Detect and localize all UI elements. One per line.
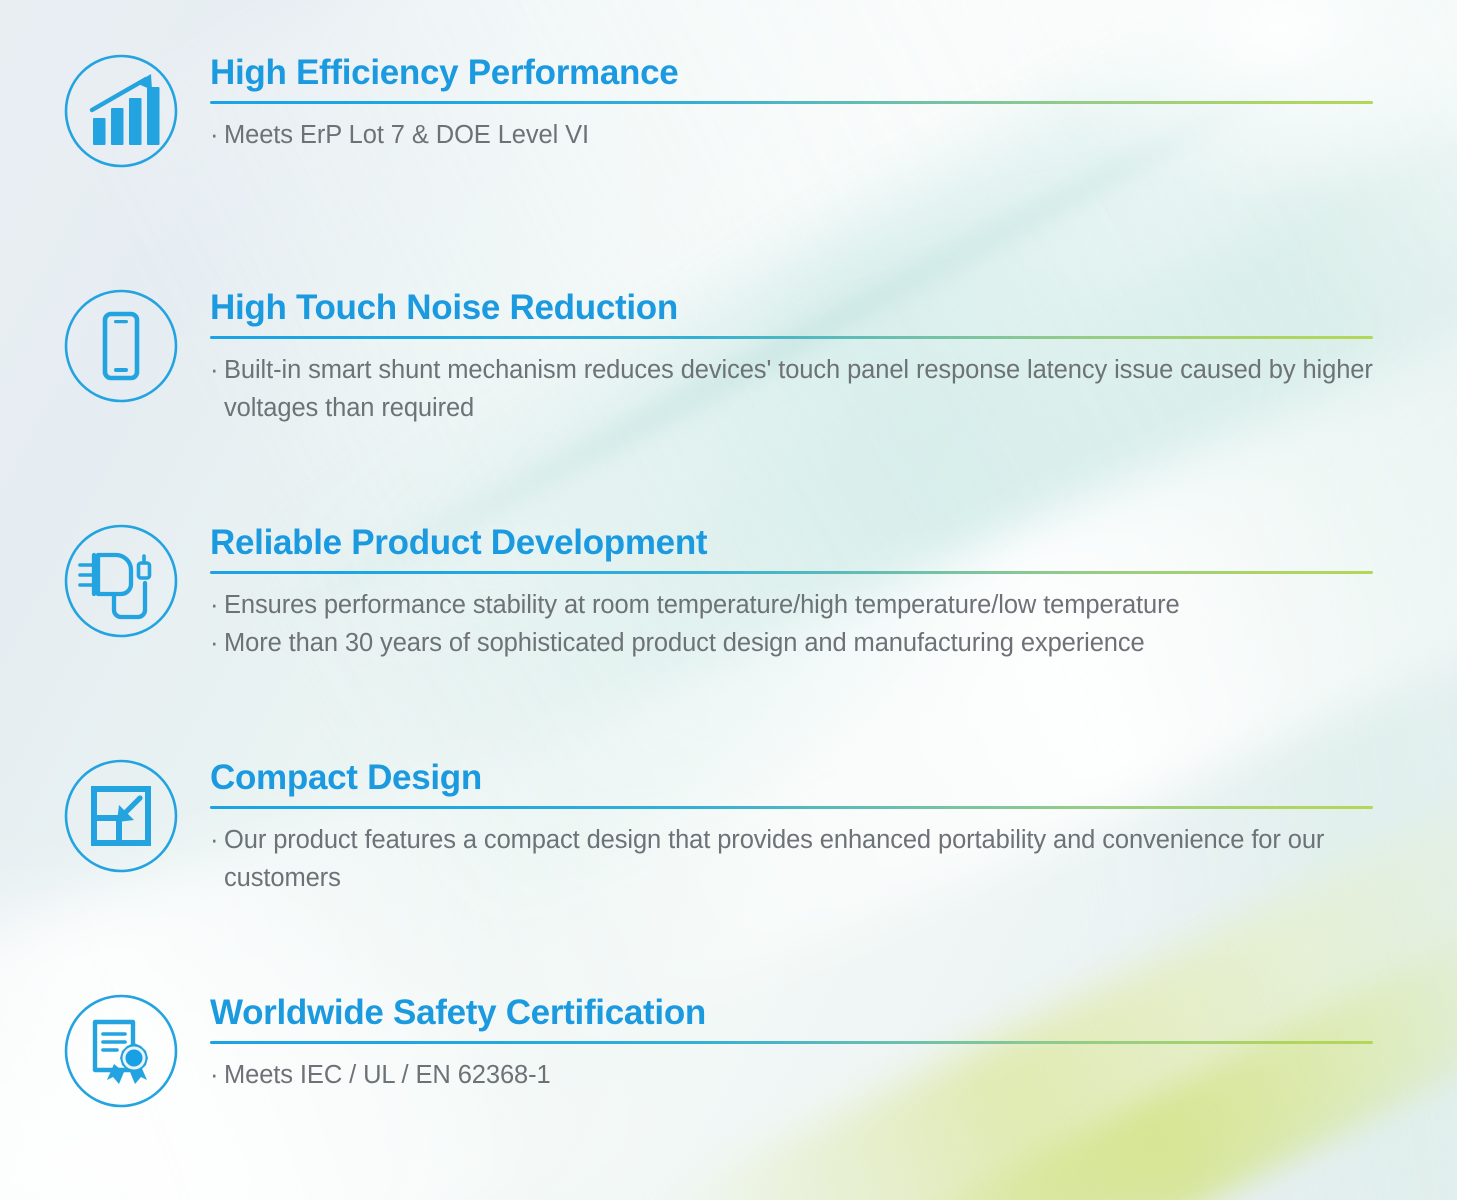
feature-divider (210, 336, 1373, 339)
bullet-item: · Ensures performance stability at room … (210, 587, 1390, 625)
feature-divider (210, 1041, 1373, 1044)
feature-bullets: · Meets IEC / UL / EN 62368-1 (210, 1057, 1390, 1095)
bullet-item: · More than 30 years of sophisticated pr… (210, 625, 1390, 663)
feature-item-worldwide-safety-certification: Worldwide Safety Certification · Meets I… (0, 992, 1457, 1110)
power-adapter-icon (58, 522, 183, 640)
bullet-marker: · (210, 587, 224, 625)
bullet-marker: · (210, 822, 224, 897)
feature-bullets: · Meets ErP Lot 7 & DOE Level VI (210, 117, 1390, 155)
feature-content: Reliable Product Development · Ensures p… (210, 522, 1390, 662)
feature-content: High Touch Noise Reduction · Built-in sm… (210, 287, 1390, 427)
bullet-item: · Our product features a compact design … (210, 822, 1390, 897)
feature-title: High Efficiency Performance (210, 54, 1390, 92)
bullet-marker: · (210, 1057, 224, 1095)
bullet-text: Meets IEC / UL / EN 62368-1 (224, 1057, 1390, 1095)
feature-item-compact-design: Compact Design · Our product features a … (0, 757, 1457, 897)
bullet-item: · Meets IEC / UL / EN 62368-1 (210, 1057, 1390, 1095)
bullet-item: · Built-in smart shunt mechanism reduces… (210, 352, 1390, 427)
feature-list: High Efficiency Performance · Meets ErP … (0, 0, 1457, 1200)
bullet-text: Our product features a compact design th… (224, 822, 1390, 897)
feature-content: Worldwide Safety Certification · Meets I… (210, 992, 1390, 1095)
bullet-marker: · (210, 117, 224, 155)
bullet-marker: · (210, 625, 224, 663)
feature-divider (210, 571, 1373, 574)
feature-bullets: · Built-in smart shunt mechanism reduces… (210, 352, 1390, 427)
feature-title: High Touch Noise Reduction (210, 289, 1390, 327)
feature-title: Compact Design (210, 759, 1390, 797)
feature-item-reliable-product-development: Reliable Product Development · Ensures p… (0, 522, 1457, 662)
bullet-text: More than 30 years of sophisticated prod… (224, 625, 1390, 663)
smartphone-icon (58, 287, 183, 405)
feature-item-high-touch-noise-reduction: High Touch Noise Reduction · Built-in sm… (0, 287, 1457, 427)
feature-bullets: · Ensures performance stability at room … (210, 587, 1390, 662)
feature-content: Compact Design · Our product features a … (210, 757, 1390, 897)
bullet-text: Meets ErP Lot 7 & DOE Level VI (224, 117, 1390, 155)
bullet-text: Built-in smart shunt mechanism reduces d… (224, 352, 1390, 427)
feature-item-high-efficiency-performance: High Efficiency Performance · Meets ErP … (0, 52, 1457, 170)
bullet-marker: · (210, 352, 224, 427)
feature-divider (210, 101, 1373, 104)
compact-resize-icon (58, 757, 183, 875)
certificate-seal-icon (58, 992, 183, 1110)
feature-title: Worldwide Safety Certification (210, 994, 1390, 1032)
feature-title: Reliable Product Development (210, 524, 1390, 562)
feature-divider (210, 806, 1373, 809)
bullet-text: Ensures performance stability at room te… (224, 587, 1390, 625)
growth-bar-chart-icon (58, 52, 183, 170)
feature-content: High Efficiency Performance · Meets ErP … (210, 52, 1390, 155)
feature-bullets: · Our product features a compact design … (210, 822, 1390, 897)
bullet-item: · Meets ErP Lot 7 & DOE Level VI (210, 117, 1390, 155)
